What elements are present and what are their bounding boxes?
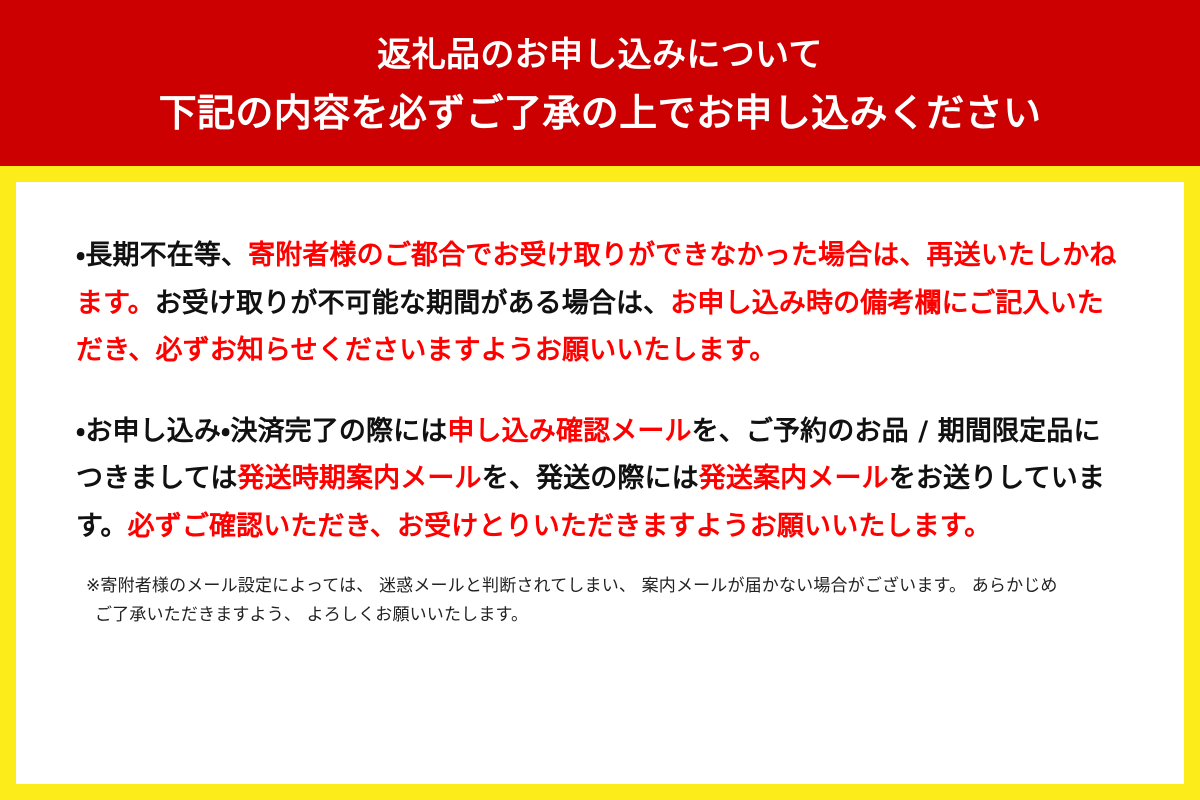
notice-paragraph-email: ・お申し込み・決済完了の際には申し込み確認メールを、ご予約のお品 / 期間限定品…: [76, 408, 1124, 551]
header-title-line-2: 下記の内容を必ずご了承の上でお申し込みください: [159, 94, 1042, 132]
header-title-line-1: 返礼品のお申し込みについて: [377, 38, 822, 72]
text-segment-2-black: お受け取りが不可能な期間がある場合は、: [155, 288, 671, 319]
text-segment-1-red: 申し込み確認メール: [447, 416, 691, 447]
notice-header: 返礼品のお申し込みについて 下記の内容を必ずご了承の上でお申し込みください: [0, 0, 1200, 166]
notice-body: ・長期不在等、寄附者様のご都合でお受け取りができなかった場合は、再送いたしかねま…: [16, 182, 1184, 784]
notice-footnote: ※寄附者様のメール設定によっては、 迷惑メールと判断されてしまい、 案内メールが…: [86, 572, 1124, 630]
yellow-frame-border: ・長期不在等、寄附者様のご都合でお受け取りができなかった場合は、再送いたしかねま…: [0, 166, 1200, 800]
footnote-line-2: ご了承いただきますよう、 よろしくお願いいたします。: [86, 601, 1124, 630]
text-segment-7-red: 必ずご確認いただき、お受けとりいただきますようお願いいたします。: [128, 511, 992, 542]
text-segment-0-black: お申し込み・決済完了の際には: [85, 416, 447, 447]
bullet-marker: ・: [76, 240, 85, 271]
footnote-line-1: ※寄附者様のメール設定によっては、 迷惑メールと判断されてしまい、 案内メールが…: [86, 572, 1124, 601]
text-segment-0-black: 長期不在等、: [85, 240, 248, 271]
text-segment-4-black: を、発送の際には: [482, 463, 699, 494]
bullet-marker: ・: [76, 416, 85, 447]
notice-paragraph-absence: ・長期不在等、寄附者様のご都合でお受け取りができなかった場合は、再送いたしかねま…: [76, 232, 1124, 375]
text-segment-3-red: 発送時期案内メール: [237, 463, 481, 494]
text-segment-5-red: 発送案内メール: [699, 463, 889, 494]
return-gift-application-notice: 返礼品のお申し込みについて 下記の内容を必ずご了承の上でお申し込みください ・長…: [0, 0, 1200, 800]
